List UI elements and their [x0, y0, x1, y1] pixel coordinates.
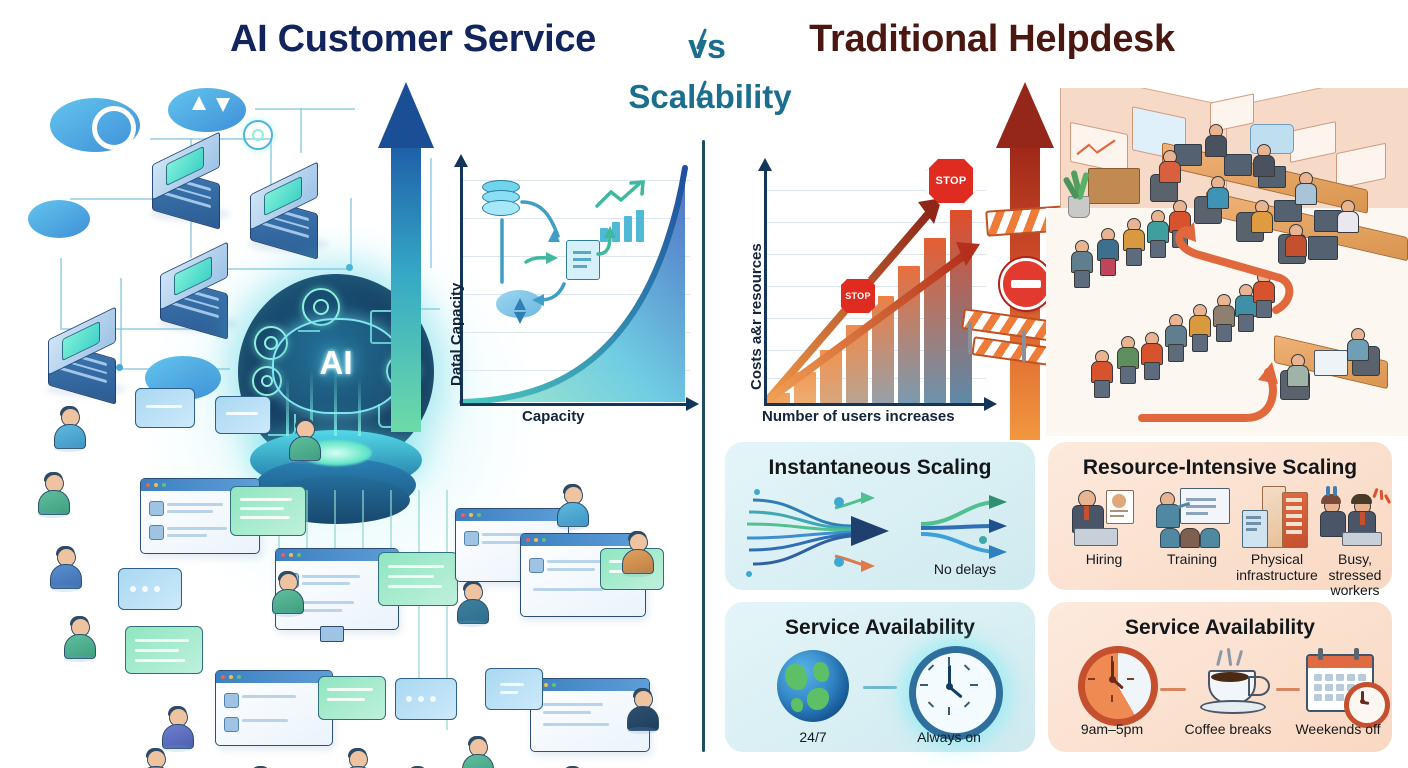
chat-window [215, 670, 333, 746]
cloud-up-arrow-icon [514, 298, 526, 310]
chat-bubble [318, 676, 386, 720]
panel-item-label: Busy, stressed workers [1316, 552, 1394, 599]
busy-office-illustration [1046, 88, 1408, 436]
barrier-stand [968, 322, 972, 354]
panel-title: Service Availability [1048, 616, 1392, 640]
chat-bubble [215, 396, 271, 434]
ai-capacity-chart: Datal Capacity Capacity [440, 150, 690, 425]
network-link [60, 258, 62, 328]
page-title-right: Traditional Helpdesk [782, 18, 1202, 61]
network-node [346, 264, 353, 271]
chat-bubble [230, 486, 306, 536]
stop-sign-icon: STOP [926, 156, 976, 206]
chat-bubble [118, 568, 182, 610]
panel-service-availability-ai: Service Availability 24/7 Always on [725, 602, 1035, 752]
stop-sign-label: STOP [841, 291, 875, 301]
coffee-icon [1198, 648, 1272, 714]
center-divider [702, 140, 705, 752]
user-avatar [138, 750, 172, 768]
converging-streams-icon [739, 486, 919, 578]
cloud-down-arrow-icon [216, 98, 230, 112]
connector-line [1160, 688, 1186, 691]
user-avatar [555, 486, 589, 528]
growth-bars-icon [600, 208, 646, 242]
cloud-up-arrow-icon [192, 96, 206, 110]
chat-bubble [125, 626, 203, 674]
user-avatar [455, 583, 489, 625]
stop-sign-icon: STOP [838, 276, 878, 316]
chart-y-axis-label: Datal Capacity [448, 283, 465, 386]
panel-item-label: Weekends off [1286, 722, 1390, 738]
cloud-down-arrow-icon [514, 312, 526, 324]
cloud-gear-glyph [92, 106, 136, 150]
user-avatar [52, 408, 86, 450]
document-icon [566, 240, 600, 280]
server-rack [48, 323, 140, 393]
chat-bubble [378, 552, 458, 606]
smooth-flow-icon [915, 494, 1025, 564]
clock-icon [909, 646, 1003, 740]
gear-icon [243, 120, 273, 150]
user-avatar [160, 708, 194, 750]
panel-item-label: 9am–5pm [1060, 722, 1164, 738]
network-link [300, 108, 302, 153]
light-beam [334, 370, 337, 436]
user-avatar [270, 573, 304, 615]
panel-item-label: Hiring [1058, 552, 1150, 568]
trend-up-arrow-icon [595, 180, 655, 210]
header: AI Customer Service vs Traditional Helpd… [0, 18, 1408, 76]
user-avatar [62, 618, 96, 660]
building-icon [1242, 486, 1312, 548]
chat-bubble [135, 388, 195, 428]
no-entry-sign-icon [1000, 258, 1052, 310]
panel-item-label: Training [1154, 552, 1230, 568]
user-avatar [287, 420, 321, 462]
user-avatar [340, 750, 374, 768]
panel-item-label: Physical infrastructure [1234, 552, 1320, 583]
monitor-stand [320, 626, 344, 642]
chat-bubble [395, 678, 457, 720]
clock-icon [1078, 646, 1158, 726]
connector-line [863, 686, 897, 689]
user-avatar [460, 738, 494, 768]
cloud-sync-icon [168, 88, 246, 132]
light-beam [358, 378, 361, 436]
growth-arrow-up-blue-icon [378, 82, 434, 432]
infographic-canvas: AI Customer Service vs Traditional Helpd… [0, 0, 1408, 768]
stop-sign-label: STOP [929, 175, 973, 187]
queue-path-arrow [1046, 88, 1408, 436]
hiring-icon [1070, 486, 1138, 548]
chart-y-axis-label: Costs a&r resources [748, 243, 765, 390]
panel-item-label: Coffee breaks [1172, 722, 1284, 738]
helpdesk-cost-chart: Costs a&r resources Number of users incr… [730, 150, 1000, 425]
chat-bubble [485, 668, 543, 710]
server-rack [152, 148, 244, 218]
page-title-left: AI Customer Service [208, 18, 618, 61]
user-avatar [36, 474, 70, 516]
panel-title: Instantaneous Scaling [725, 456, 1035, 480]
panel-caption: No delays [905, 562, 1025, 578]
chart-x-axis-label: Capacity [522, 408, 585, 425]
network-link [255, 108, 355, 110]
stressed-workers-icon [1320, 486, 1392, 548]
panel-resource-intensive-scaling: Resource-Intensive Scaling Hiring Traini… [1048, 442, 1392, 590]
network-link [350, 198, 352, 268]
vs-label: vs [672, 28, 742, 67]
panel-item-label: 24/7 [761, 730, 865, 746]
barrier-stand [1022, 330, 1026, 362]
server-rack [250, 178, 342, 248]
user-avatar [48, 548, 82, 590]
server-rack [160, 258, 252, 328]
database-icon [482, 180, 518, 216]
panel-title: Service Availability [725, 616, 1035, 640]
connector-line [1276, 688, 1300, 691]
user-avatar [625, 690, 659, 732]
panel-item-label: Always on [897, 730, 1001, 746]
training-icon [1154, 486, 1228, 548]
user-avatar [620, 533, 654, 575]
panel-service-availability-traditional: Service Availability [1048, 602, 1392, 752]
globe-icon [777, 650, 849, 722]
cloud-small-icon [28, 200, 90, 238]
panel-instantaneous-scaling: Instantaneous Scaling [725, 442, 1035, 590]
panel-title: Resource-Intensive Scaling [1048, 456, 1392, 480]
chart-x-axis-label: Number of users increases [762, 408, 955, 425]
